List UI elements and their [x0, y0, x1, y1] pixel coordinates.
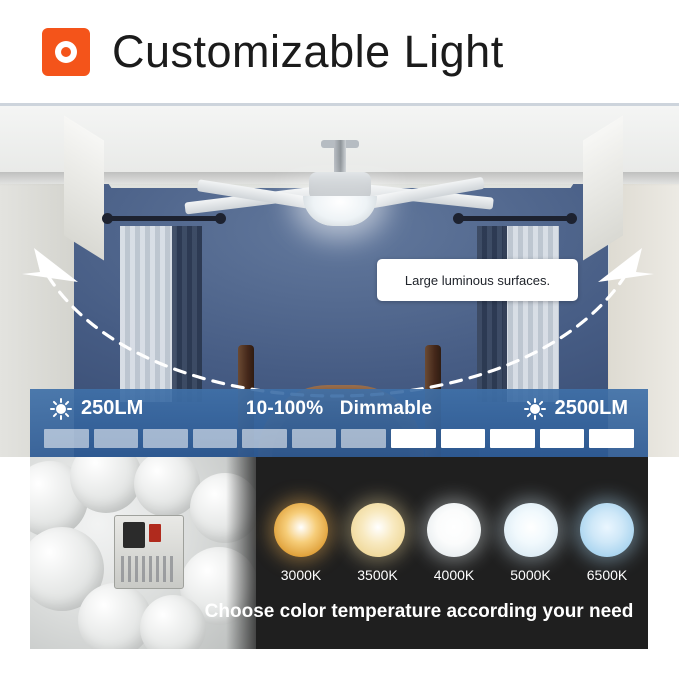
brightness-tick: [193, 429, 238, 448]
max-lumen-group: 2500LM: [524, 397, 628, 420]
remote-control-icon: [114, 515, 184, 589]
brightness-tick: [94, 429, 139, 448]
dimmable-word: Dimmable: [340, 398, 432, 419]
callout-text: Large luminous surfaces.: [405, 273, 550, 288]
color-temperature-item: 4000K: [421, 503, 487, 583]
color-temperature-item: 5000K: [498, 503, 564, 583]
product-infographic: Customizable Light: [0, 0, 679, 679]
color-temperature-label: 5000K: [498, 567, 564, 583]
max-lumen-label: 2500LM: [555, 397, 628, 420]
color-temperature-item: 3500K: [345, 503, 411, 583]
dimmable-range-value: 10-100%: [246, 398, 323, 419]
brightness-tick: [292, 429, 337, 448]
large-sun-icon: [524, 398, 546, 420]
brightness-tick-scale: [44, 429, 634, 448]
color-temperature-item: 3000K: [268, 503, 334, 583]
footer-whitespace: [0, 649, 679, 679]
brightness-tick: [540, 429, 585, 448]
brightness-tick: [341, 429, 386, 448]
color-swatch-3000k: [274, 503, 328, 557]
brightness-tick: [490, 429, 535, 448]
color-swatch-4000k: [427, 503, 481, 557]
brightness-tick: [44, 429, 89, 448]
color-swatch-6500k: [580, 503, 634, 557]
color-swatch-3500k: [351, 503, 405, 557]
page-title: Customizable Light: [112, 26, 504, 78]
brightness-tick: [143, 429, 188, 448]
brightness-tick: [441, 429, 486, 448]
color-temperature-caption: Choose color temperature according your …: [30, 601, 648, 623]
color-temperature-label: 3000K: [268, 567, 334, 583]
brightness-tick: [242, 429, 287, 448]
color-temperature-label: 3500K: [345, 567, 411, 583]
brightness-tick: [391, 429, 436, 448]
callout-large-luminous-surfaces: Large luminous surfaces.: [377, 259, 578, 301]
color-temperature-label: 6500K: [574, 567, 640, 583]
brightness-tick: [589, 429, 634, 448]
color-temperature-item: 6500K: [574, 503, 640, 583]
dimmable-band: 250LM 10-100% Dimmable 2500LM: [30, 389, 648, 457]
header-bar: Customizable Light: [0, 0, 679, 104]
color-temperature-label: 4000K: [421, 567, 487, 583]
orange-ring-logo-icon: [42, 28, 90, 76]
color-swatch-5000k: [504, 503, 558, 557]
color-temperature-swatches: 3000K 3500K 4000K 5000K 6500K: [268, 503, 640, 583]
color-temperature-panel: 3000K 3500K 4000K 5000K 6500K Choose col…: [30, 457, 648, 649]
arrow-right-icon: [598, 248, 654, 282]
arrow-left-icon: [22, 248, 78, 282]
